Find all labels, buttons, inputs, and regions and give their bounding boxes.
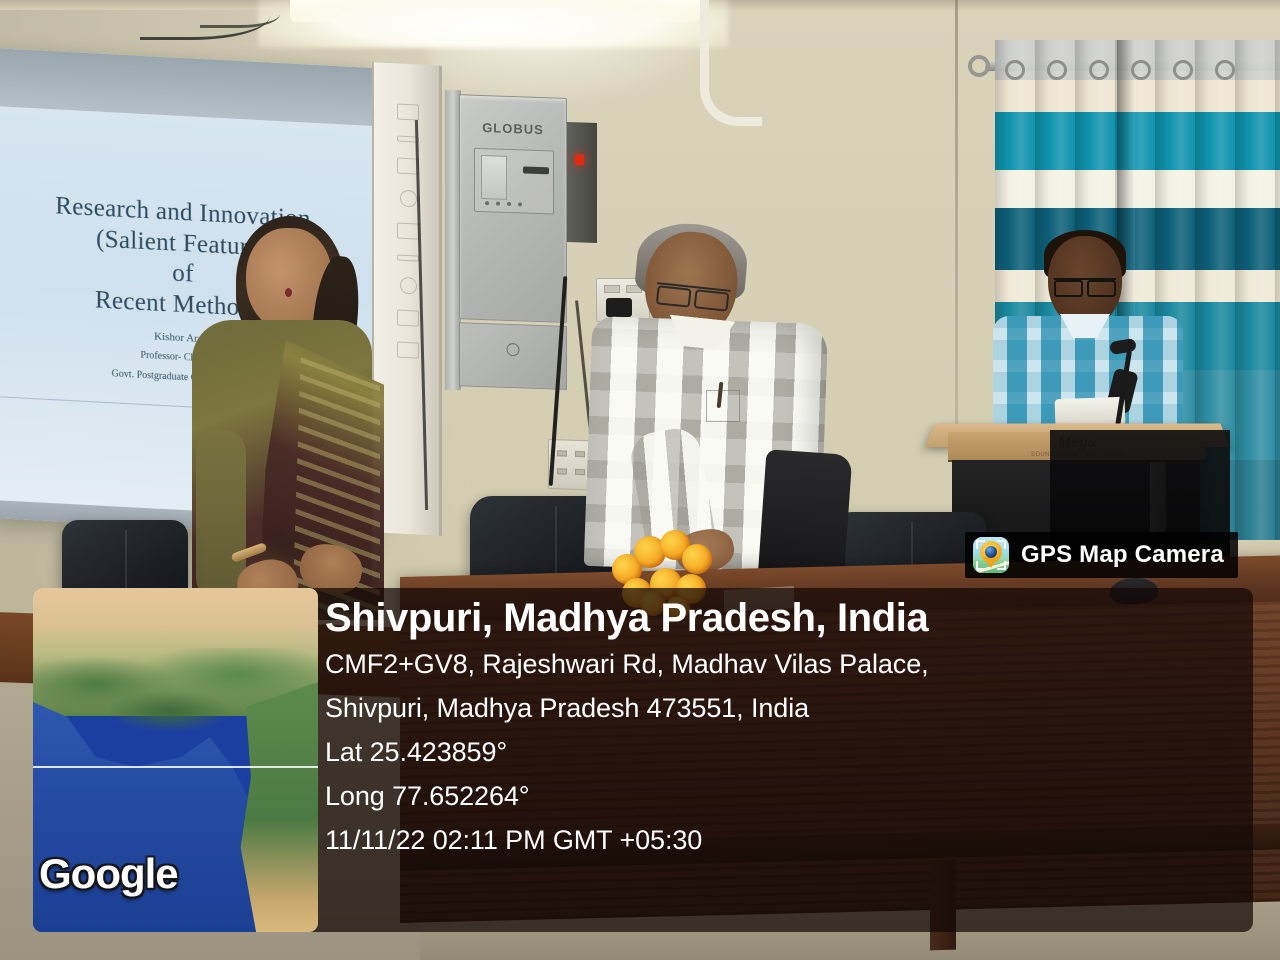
- ceiling-wire-secondary: [200, 0, 280, 28]
- focus-bracket-icon: [976, 561, 985, 570]
- panel-shadow: [567, 122, 597, 243]
- globus-switch: [523, 166, 549, 174]
- watermark-app-name: GPS Map Camera: [1021, 541, 1224, 569]
- curtain-rod-finial: [968, 55, 990, 77]
- indicator-dot: [496, 202, 500, 206]
- location-timestamp: 11/11/22 02:11 PM GMT +05:30: [325, 818, 1225, 862]
- indicator-dot: [507, 202, 511, 206]
- globus-indicator-dots: [485, 201, 522, 206]
- map-crosshair-line: [33, 766, 318, 768]
- gps-map-camera-photo: Research and Innovation (Salient Feature…: [0, 0, 1280, 960]
- globus-control-area: [474, 148, 554, 215]
- man-shirt-pocket: [706, 390, 740, 422]
- gps-map-camera-watermark-badge: GPS Map Camera: [965, 532, 1238, 578]
- socket-port: [575, 469, 585, 475]
- globus-box: GLOBUS: [459, 94, 567, 323]
- indicator-dot: [518, 202, 522, 206]
- power-icon: [397, 341, 419, 358]
- curtain-grommets: [1005, 60, 1275, 86]
- location-address-line-2: Shivpuri, Madhya Pradesh 473551, India: [325, 686, 1225, 730]
- location-place-title: Shivpuri, Madhya Pradesh, India: [325, 596, 1225, 642]
- grommet-ring-icon: [1005, 60, 1025, 80]
- man-trousers: [758, 449, 853, 585]
- undo-icon: [397, 254, 419, 261]
- location-address-line-1: CMF2+GV8, Rajeshwari Rd, Madhav Vilas Pa…: [325, 642, 1225, 686]
- ceiling-conduit: [700, 0, 762, 126]
- globus-lower-panel: [459, 322, 567, 390]
- socket-port: [557, 450, 567, 456]
- indicator-dot: [485, 201, 489, 205]
- circle-icon: [400, 190, 417, 208]
- location-longitude: Long 77.652264°: [325, 774, 1225, 818]
- focus-bracket-icon: [976, 540, 985, 549]
- marigold-flower: [682, 544, 712, 574]
- globus-brand-label: GLOBUS: [460, 119, 566, 138]
- plug-icon: [606, 298, 632, 317]
- location-latitude: Lat 25.423859°: [325, 730, 1225, 774]
- globus-dial-icon: [507, 343, 520, 356]
- grommet-ring-icon: [1173, 60, 1193, 80]
- gps-map-camera-app-icon: [973, 537, 1009, 573]
- google-watermark: Google: [39, 850, 178, 898]
- focus-bracket-icon: [997, 561, 1006, 570]
- grommet-ring-icon: [1215, 60, 1235, 80]
- globus-wall-panel: GLOBUS: [445, 90, 575, 395]
- socket-switch: [604, 285, 620, 293]
- grommet-ring-icon: [1047, 60, 1067, 80]
- power-led-indicator: [575, 154, 584, 165]
- location-text-block: Shivpuri, Madhya Pradesh, India CMF2+GV8…: [325, 596, 1225, 862]
- grommet-ring-icon: [1089, 60, 1109, 80]
- eyeglasses-icon: [1054, 278, 1116, 292]
- fluorescent-tube-glow: [258, 0, 728, 48]
- focus-bracket-icon: [997, 540, 1006, 549]
- globus-display: [481, 155, 507, 200]
- save-icon: [397, 222, 419, 239]
- grommet-ring-icon: [1131, 60, 1151, 80]
- pen-icon: [397, 103, 419, 120]
- socket-port: [575, 451, 585, 457]
- camera-lens-icon: [985, 546, 997, 558]
- map-thumbnail: Google: [33, 588, 318, 932]
- print-icon: [397, 309, 419, 326]
- socket-port: [557, 468, 567, 474]
- bindi: [285, 288, 292, 297]
- eraser-icon: [400, 277, 417, 295]
